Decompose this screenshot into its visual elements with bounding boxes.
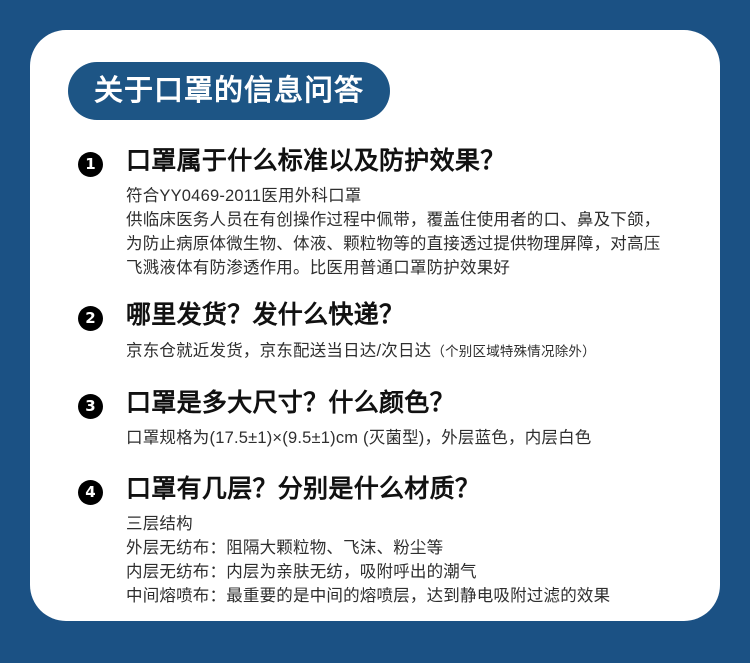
faq-question-4: 口罩有几层？分别是什么材质？	[126, 474, 720, 505]
answer-line: 外层无纺布：阻隔大颗粒物、飞沫、粉尘等	[126, 536, 720, 560]
faq-list: 1 口罩属于什么标准以及防护效果？ 符合YY0469-2011医用外科口罩 供临…	[30, 146, 720, 608]
faq-item-2: 2 哪里发货？发什么快递？ 京东仓就近发货，京东配送当日达/次日达（个别区域特殊…	[78, 300, 720, 363]
faq-item-4: 4 口罩有几层？分别是什么材质？ 三层结构 外层无纺布：阻隔大颗粒物、飞沫、粉尘…	[78, 474, 720, 608]
answer-line: 为防止病原体微生物、体液、颗粒物等的直接透过提供物理屏障，对高压	[126, 232, 720, 256]
answer-line: 中间熔喷布：最重要的是中间的熔喷层，达到静电吸附过滤的效果	[126, 584, 720, 608]
answer-note: （个别区域特殊情况除外）	[431, 344, 595, 359]
faq-question-1: 口罩属于什么标准以及防护效果？	[126, 146, 720, 177]
answer-line: 飞溅液体有防渗透作用。比医用普通口罩防护效果好	[126, 256, 720, 280]
faq-item-1: 1 口罩属于什么标准以及防护效果？ 符合YY0469-2011医用外科口罩 供临…	[78, 146, 720, 280]
answer-text: 京东仓就近发货，京东配送当日达/次日达	[126, 342, 431, 360]
faq-card: 关于口罩的信息问答 1 口罩属于什么标准以及防护效果？ 符合YY0469-201…	[30, 30, 720, 621]
number-badge-2: 2	[78, 306, 103, 331]
faq-item-3: 3 口罩是多大尺寸？什么颜色？ 口罩规格为(17.5±1)×(9.5±1)cm …	[78, 388, 720, 450]
faq-answer-3: 口罩规格为(17.5±1)×(9.5±1)cm (灭菌型)，外层蓝色，内层白色	[126, 426, 720, 450]
number-badge-1: 1	[78, 152, 103, 177]
number-badge-3: 3	[78, 394, 103, 419]
faq-question-2: 哪里发货？发什么快递？	[126, 300, 720, 331]
answer-line: 符合YY0469-2011医用外科口罩	[126, 184, 720, 208]
answer-line: 内层无纺布：内层为亲肤无纺，吸附呼出的潮气	[126, 560, 720, 584]
title-banner: 关于口罩的信息问答	[68, 62, 390, 120]
answer-line: 口罩规格为(17.5±1)×(9.5±1)cm (灭菌型)，外层蓝色，内层白色	[126, 426, 720, 450]
faq-question-3: 口罩是多大尺寸？什么颜色？	[126, 388, 720, 419]
answer-line: 供临床医务人员在有创操作过程中佩带，覆盖住使用者的口、鼻及下颌，	[126, 208, 720, 232]
number-badge-4: 4	[78, 480, 103, 505]
page-title: 关于口罩的信息问答	[94, 77, 364, 106]
faq-answer-2: 京东仓就近发货，京东配送当日达/次日达（个别区域特殊情况除外）	[126, 339, 720, 364]
page-root: 关于口罩的信息问答 1 口罩属于什么标准以及防护效果？ 符合YY0469-201…	[0, 0, 750, 663]
answer-line: 三层结构	[126, 512, 720, 536]
faq-answer-4: 三层结构 外层无纺布：阻隔大颗粒物、飞沫、粉尘等 内层无纺布：内层为亲肤无纺，吸…	[126, 512, 720, 608]
faq-answer-1: 符合YY0469-2011医用外科口罩 供临床医务人员在有创操作过程中佩带，覆盖…	[126, 184, 720, 280]
answer-line: 京东仓就近发货，京东配送当日达/次日达（个别区域特殊情况除外）	[126, 339, 720, 364]
